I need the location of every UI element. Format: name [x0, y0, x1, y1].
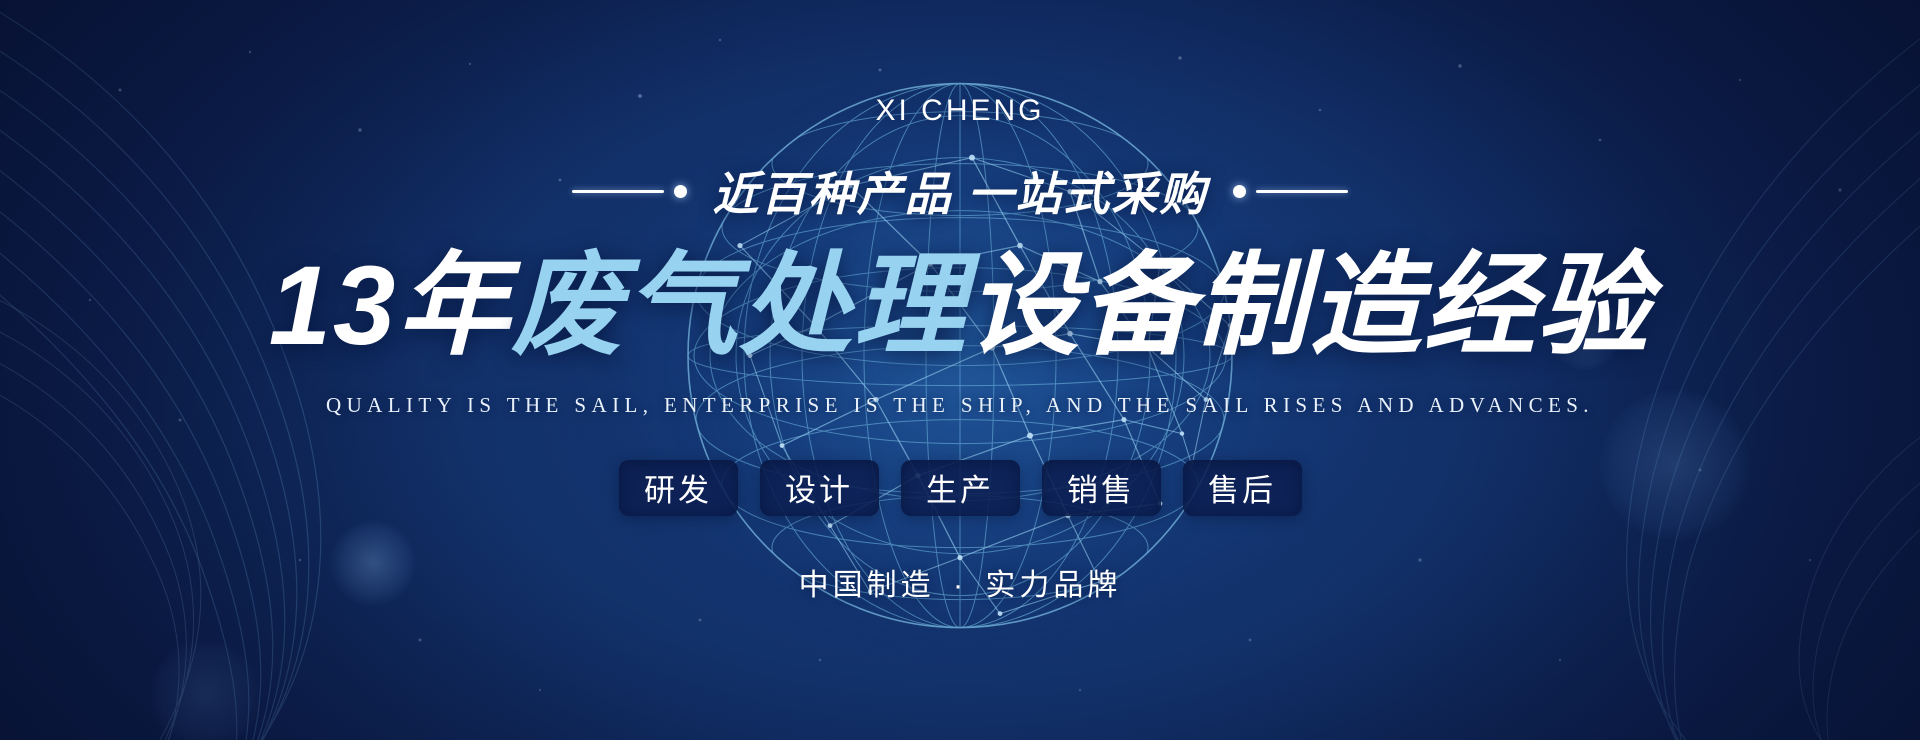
brand-name: XI CHENG — [875, 96, 1044, 126]
footer-slogan-separator: · — [947, 569, 973, 602]
right-dash-bar — [1256, 190, 1348, 193]
footer-slogan-right: 实力品牌 — [985, 569, 1121, 602]
service-pill-rd[interactable]: 研发 — [619, 460, 738, 516]
banner-headline: 13年废气处理设备制造经验 — [269, 246, 1652, 367]
subtitle-row: 近百种产品 一站式采购 — [572, 158, 1349, 224]
right-dash-decoration — [1233, 185, 1348, 198]
service-pill-list: 研发 设计 生产 销售 售后 — [619, 460, 1302, 516]
english-tagline: QUALITY IS THE SAIL, ENTERPRISE IS THE S… — [326, 393, 1594, 418]
right-dash-dot — [1233, 185, 1246, 198]
left-dash-dot — [674, 185, 687, 198]
service-pill-design[interactable]: 设计 — [760, 460, 879, 516]
headline-part-tail: 设备制造经验 — [967, 243, 1651, 368]
left-dash-bar — [572, 190, 664, 193]
headline-part-years: 13年 — [269, 243, 512, 368]
headline-part-highlight: 废气处理 — [511, 243, 967, 368]
footer-slogan: 中国制造 · 实力品牌 — [799, 560, 1122, 604]
hero-banner: XI CHENG 近百种产品 一站式采购 13年废气处理设备制造经验 QUALI… — [0, 0, 1920, 740]
service-pill-production[interactable]: 生产 — [901, 460, 1020, 516]
left-dash-decoration — [572, 185, 687, 198]
banner-content: XI CHENG 近百种产品 一站式采购 13年废气处理设备制造经验 QUALI… — [0, 0, 1920, 740]
banner-subtitle: 近百种产品 一站式采购 — [713, 158, 1208, 224]
footer-slogan-left: 中国制造 — [799, 569, 935, 602]
service-pill-sales[interactable]: 销售 — [1042, 460, 1161, 516]
service-pill-aftersale[interactable]: 售后 — [1183, 460, 1302, 516]
